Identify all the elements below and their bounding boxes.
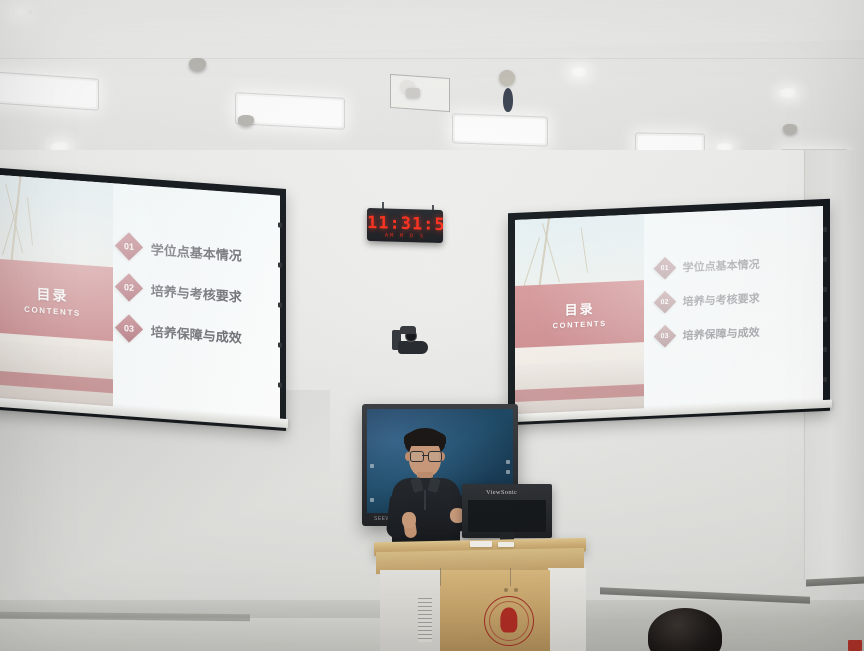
branch-decor bbox=[581, 227, 589, 272]
presenter-glasses-bridge bbox=[422, 455, 428, 456]
agenda-item[interactable]: 01 学位点基本情况 bbox=[657, 254, 811, 277]
screen-hook bbox=[278, 382, 282, 387]
agenda-label: 学位点基本情况 bbox=[683, 256, 760, 275]
agenda-badge-number: 03 bbox=[661, 333, 669, 340]
screen-hook bbox=[278, 222, 282, 227]
podium-left-side bbox=[380, 570, 442, 651]
right-slide: 目录 CONTENTS 01 学位点基本情况 02 培养与考核要求 bbox=[515, 206, 823, 418]
panel-side-button[interactable] bbox=[370, 498, 374, 502]
presenter-glasses-lens bbox=[410, 451, 424, 462]
presenter-shirt-placket bbox=[424, 490, 426, 510]
ceiling-projector-lens bbox=[503, 88, 513, 112]
agenda-item[interactable]: 02 培养与考核要求 bbox=[657, 288, 811, 311]
screen-hook bbox=[823, 377, 827, 382]
right-projection-screen[interactable]: 目录 CONTENTS 01 学位点基本情况 02 培养与考核要求 bbox=[508, 199, 830, 426]
podium-papers bbox=[498, 542, 514, 547]
monitor-brand-label: ViewSonic bbox=[486, 489, 517, 496]
podium-cable bbox=[440, 568, 441, 586]
screen-hook bbox=[278, 342, 282, 347]
right-agenda-list: 01 学位点基本情况 02 培养与考核要求 03 培养 bbox=[657, 229, 811, 370]
agenda-badge: 02 bbox=[653, 291, 676, 314]
ceiling-speaker-small bbox=[238, 115, 254, 126]
podium-knob[interactable] bbox=[504, 588, 508, 592]
agenda-label: 培养保障与成效 bbox=[151, 321, 242, 347]
left-projection-screen[interactable]: 目录 CONTENTS 01 学位点基本情况 02 培养与考核要求 bbox=[0, 167, 286, 431]
panel-side-button[interactable] bbox=[370, 464, 374, 468]
agenda-item[interactable]: 02 培养与考核要求 bbox=[119, 277, 266, 308]
agenda-badge-number: 01 bbox=[661, 265, 669, 272]
podium-monitor[interactable]: ViewSonic bbox=[462, 484, 552, 538]
panel-side-button[interactable] bbox=[506, 460, 510, 464]
left-slide: 目录 CONTENTS 01 学位点基本情况 02 培养与考核要求 bbox=[0, 174, 280, 423]
screen-hook bbox=[278, 302, 282, 307]
screen-hook bbox=[823, 317, 827, 322]
screen-hook bbox=[278, 262, 282, 267]
podium-knob[interactable] bbox=[514, 588, 518, 592]
panel-side-button[interactable] bbox=[506, 470, 510, 474]
ceiling-projector-mount bbox=[189, 58, 206, 71]
agenda-badge-number: 02 bbox=[124, 282, 134, 293]
agenda-item[interactable]: 03 培养保障与成效 bbox=[119, 318, 266, 349]
ceiling-device bbox=[783, 124, 797, 134]
podium-vent bbox=[418, 598, 432, 642]
digital-wall-clock: 11:31:53 AM M D S bbox=[367, 208, 443, 243]
contents-title-cn: 目录 bbox=[565, 298, 595, 318]
agenda-badge: 03 bbox=[653, 325, 676, 348]
ceiling-downlight bbox=[570, 67, 589, 77]
ceiling-panel-light bbox=[0, 74, 96, 107]
ceiling-downlight bbox=[779, 88, 798, 98]
left-agenda-list: 01 学位点基本情况 02 培养与考核要求 03 培养 bbox=[119, 210, 266, 375]
screen-hook bbox=[823, 257, 827, 262]
contents-title-en: CONTENTS bbox=[553, 319, 607, 330]
contents-title-en: CONTENTS bbox=[24, 304, 81, 317]
agenda-item[interactable]: 03 培养保障与成效 bbox=[657, 322, 811, 345]
ceiling-downlight bbox=[12, 8, 32, 17]
ceiling-panel-light bbox=[455, 116, 545, 143]
ceiling-vent bbox=[390, 74, 450, 112]
podium-cable bbox=[510, 568, 511, 586]
screen-hook bbox=[823, 287, 827, 292]
agenda-label: 培养保障与成效 bbox=[683, 324, 760, 343]
branch-decor bbox=[27, 197, 33, 245]
ceiling-seam bbox=[0, 58, 864, 59]
podium-university-emblem bbox=[484, 596, 534, 646]
podium-right-side bbox=[548, 568, 586, 651]
branch-decor bbox=[523, 237, 540, 288]
left-screen-surface: 目录 CONTENTS 01 学位点基本情况 02 培养与考核要求 bbox=[0, 174, 280, 423]
contents-title-cn: 目录 bbox=[36, 283, 68, 305]
agenda-label: 学位点基本情况 bbox=[151, 239, 242, 265]
agenda-badge-number: 03 bbox=[124, 323, 134, 334]
emblem-figure bbox=[500, 607, 517, 632]
agenda-item[interactable]: 01 学位点基本情况 bbox=[119, 236, 266, 267]
agenda-badge: 02 bbox=[115, 273, 143, 301]
agenda-badge: 01 bbox=[115, 232, 143, 260]
screen-hook bbox=[823, 347, 827, 352]
presenter-glasses-lens bbox=[428, 451, 442, 462]
monitor-back-panel bbox=[468, 500, 546, 532]
right-screen-surface: 目录 CONTENTS 01 学位点基本情况 02 培养与考核要求 bbox=[515, 206, 823, 418]
wall-camera-body bbox=[398, 341, 428, 354]
agenda-badge: 03 bbox=[115, 314, 143, 342]
ceiling-speaker bbox=[406, 88, 420, 98]
ceiling-projector-body bbox=[499, 70, 515, 86]
right-contents-band: 目录 CONTENTS bbox=[515, 280, 644, 348]
agenda-label: 培养与考核要求 bbox=[683, 290, 760, 309]
presenter-left-hand bbox=[402, 512, 416, 528]
agenda-badge-number: 02 bbox=[661, 299, 669, 306]
podium-papers bbox=[470, 541, 492, 547]
foreground-red-object bbox=[848, 640, 862, 651]
floor-front-strip bbox=[0, 618, 400, 651]
agenda-badge-number: 01 bbox=[124, 241, 134, 252]
wall-camera-top bbox=[400, 326, 416, 334]
agenda-badge: 01 bbox=[653, 257, 676, 280]
screen-hook bbox=[823, 227, 827, 232]
lecture-hall-photo: 目录 CONTENTS 01 学位点基本情况 02 培养与考核要求 bbox=[0, 0, 864, 651]
presenter-hair-top bbox=[404, 430, 446, 446]
agenda-label: 培养与考核要求 bbox=[151, 280, 242, 306]
left-contents-band: 目录 CONTENTS bbox=[0, 258, 113, 341]
clock-subdisplay: AM M D S bbox=[367, 232, 443, 240]
